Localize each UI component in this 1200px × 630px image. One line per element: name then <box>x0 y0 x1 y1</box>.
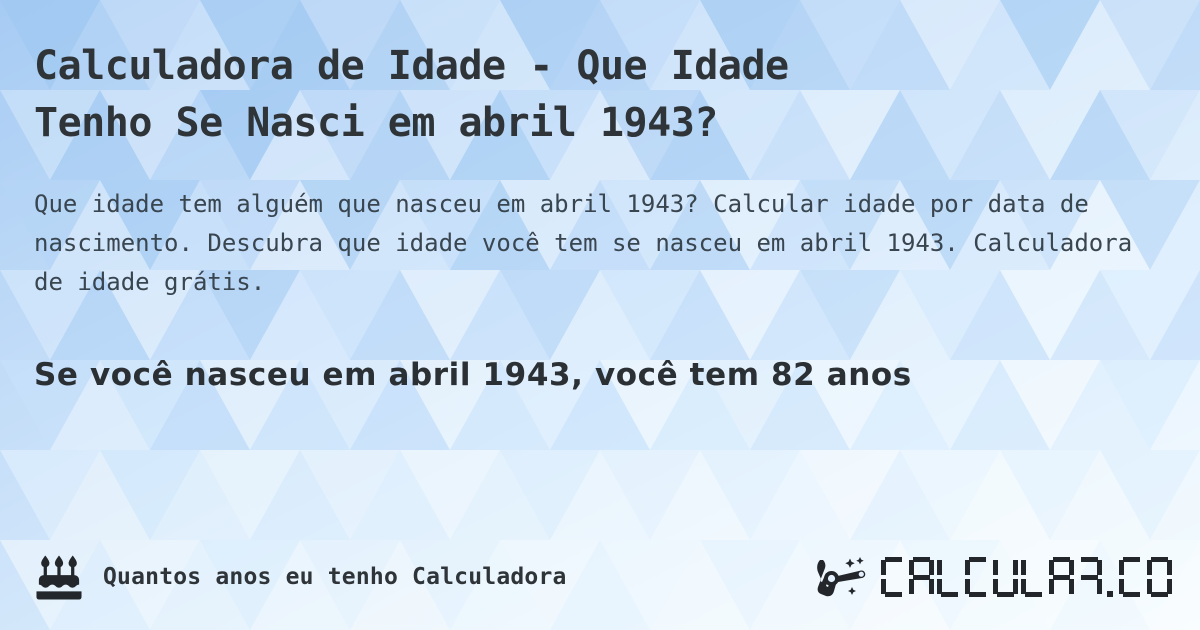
logo-seg-a2 <box>1049 557 1074 597</box>
logo-seg-o <box>1147 557 1172 597</box>
logo-wordmark <box>881 557 1172 597</box>
footer-brand-left: Quantos anos eu tenho Calculadora <box>34 554 567 600</box>
share-card-canvas: Calculadora de Idade - Que Idade Tenho S… <box>0 0 1200 630</box>
footer-brand-label: Quantos anos eu tenho Calculadora <box>103 564 567 590</box>
birthday-cake-icon <box>34 554 84 600</box>
card-content: Calculadora de Idade - Que Idade Tenho S… <box>0 0 1200 630</box>
card-footer: Quantos anos eu tenho Calculadora <box>34 550 1172 604</box>
logo-seg-l2 <box>1021 557 1046 597</box>
magic-wand-hand-icon <box>811 554 873 600</box>
page-title: Calculadora de Idade - Que Idade Tenho S… <box>34 38 1034 152</box>
logo-seg-l1 <box>937 557 962 597</box>
logo-seg-t <box>1077 557 1102 597</box>
age-result-text: Se você nasceu em abril 1943, você tem 8… <box>34 355 1174 395</box>
logo-seg-a1 <box>909 557 934 597</box>
logo-seg-period <box>1105 557 1116 597</box>
page-description: Que idade tem alguém que nasceu em abril… <box>34 185 1154 302</box>
logo-seg-c2 <box>965 557 990 597</box>
logo-seg-c1 <box>881 557 906 597</box>
logo-seg-i <box>1119 557 1144 597</box>
footer-logo[interactable] <box>811 554 1172 600</box>
logo-seg-u <box>993 557 1018 597</box>
